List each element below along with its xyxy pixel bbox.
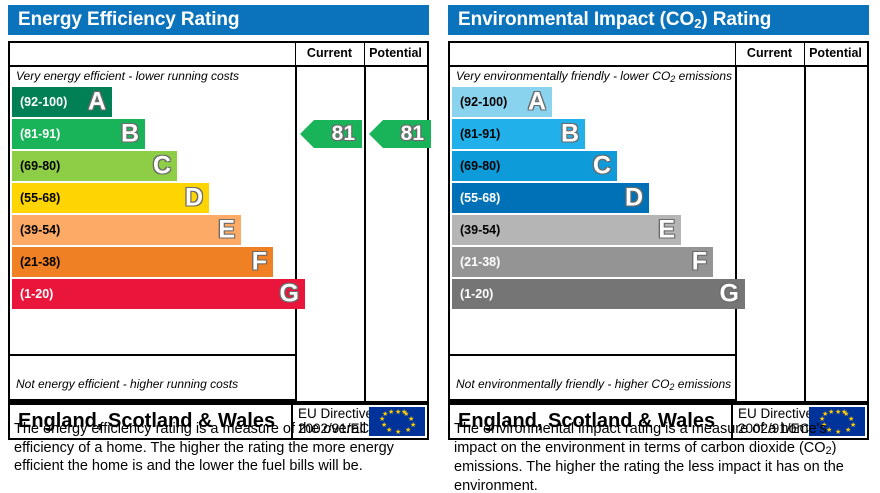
band-range-g: (1-20): [20, 279, 53, 309]
band-bar-c-env: (69-80) C: [452, 151, 617, 181]
band-bar-f-env: (21-38) F: [452, 247, 713, 277]
grid-header-row-environmental: Current Potential: [450, 43, 867, 65]
panel-title-text: Energy Efficiency Rating: [18, 9, 239, 30]
band-letter-e: E: [218, 218, 235, 243]
rating-grid-environmental: Current Potential Very environmentally f…: [448, 41, 869, 403]
band-bar-b: (81-91) B: [12, 119, 145, 149]
panel-title-subscript: 2: [694, 16, 701, 31]
description-environmental: The environmental impact rating is a mea…: [454, 420, 859, 493]
band-letter-g: G: [280, 282, 299, 307]
band-range-c-env: (69-80): [460, 151, 500, 181]
potential-rating-value: 81: [401, 122, 424, 146]
caption-bottom-text-env: Not environmentally friendly - higher CO: [456, 377, 669, 391]
caption-top-text: Very energy efficient - lower running co…: [16, 69, 239, 83]
column-separator-current: [295, 65, 297, 401]
panel-title-environmental-impact: Environmental Impact (CO2) Rating: [448, 5, 869, 35]
band-range-b: (81-91): [20, 119, 60, 149]
band-letter-c-env: C: [593, 154, 611, 179]
band-bar-g-env: (1-20) G: [452, 279, 745, 309]
caption-bottom-environmental: Not environmentally friendly - higher CO…: [456, 376, 731, 392]
band-letter-d: D: [185, 186, 203, 211]
epc-chart-page: Energy Efficiency Rating Current Potenti…: [0, 0, 880, 493]
band-range-b-env: (81-91): [460, 119, 500, 149]
band-bar-c: (69-80) C: [12, 151, 177, 181]
column-separator-potential: [364, 65, 366, 401]
band-bar-d-env: (55-68) D: [452, 183, 649, 213]
column-separator-current-env: [735, 65, 737, 401]
band-letter-f-env: F: [692, 250, 707, 275]
caption-top-tail: emissions: [675, 69, 732, 83]
grid-header-row-energy: Current Potential: [10, 43, 427, 65]
column-header-potential-env: Potential: [804, 43, 867, 65]
band-range-c: (69-80): [20, 151, 60, 181]
panel-title-tail: ) Rating: [701, 9, 771, 30]
grid-bottom-rule-env: [450, 399, 737, 401]
band-range-a-env: (92-100): [460, 87, 507, 117]
potential-rating-arrow: 81: [369, 120, 431, 148]
panel-title-energy-efficiency: Energy Efficiency Rating: [8, 5, 429, 35]
column-separator-potential-env: [804, 65, 806, 401]
band-bar-a: (92-100) A: [12, 87, 112, 117]
band-letter-d-env: D: [625, 186, 643, 211]
band-range-e: (39-54): [20, 215, 60, 245]
caption-top-energy: Very energy efficient - lower running co…: [16, 68, 239, 84]
band-bar-b-env: (81-91) B: [452, 119, 585, 149]
band-range-e-env: (39-54): [460, 215, 500, 245]
caption-top-text-env: Very environmentally friendly - lower CO: [456, 69, 670, 83]
band-letter-c: C: [153, 154, 171, 179]
caption-bottom-rule-env: [450, 354, 737, 356]
band-range-f-env: (21-38): [460, 247, 500, 277]
description-energy: The energy efficiency rating is a measur…: [14, 420, 419, 476]
band-letter-a: A: [88, 90, 106, 115]
caption-bottom-subscript: 2: [669, 382, 674, 392]
band-range-d: (55-68): [20, 183, 60, 213]
column-header-current-env: Current: [735, 43, 804, 65]
band-range-d-env: (55-68): [460, 183, 500, 213]
grid-bottom-rule: [10, 399, 297, 401]
caption-bottom-text: Not energy efficient - higher running co…: [16, 377, 238, 391]
band-bar-d: (55-68) D: [12, 183, 209, 213]
caption-bottom-tail: emissions: [674, 377, 731, 391]
rating-grid-energy: Current Potential Very energy efficient …: [8, 41, 429, 403]
band-letter-e-env: E: [658, 218, 675, 243]
panel-title-text-env: Environmental Impact (CO: [458, 9, 694, 30]
caption-top-environmental: Very environmentally friendly - lower CO…: [456, 68, 732, 84]
band-letter-a-env: A: [528, 90, 546, 115]
band-range-f: (21-38): [20, 247, 60, 277]
band-letter-f: F: [252, 250, 267, 275]
band-bar-e-env: (39-54) E: [452, 215, 681, 245]
current-rating-arrow: 81: [300, 120, 362, 148]
caption-bottom-energy: Not energy efficient - higher running co…: [16, 376, 238, 392]
band-bar-a-env: (92-100) A: [452, 87, 552, 117]
band-letter-g-env: G: [720, 282, 739, 307]
caption-top-subscript: 2: [670, 74, 675, 84]
panel-environmental-impact: Environmental Impact (CO2) Rating Curren…: [440, 0, 869, 493]
band-range-g-env: (1-20): [460, 279, 493, 309]
band-bar-e: (39-54) E: [12, 215, 241, 245]
column-header-current: Current: [295, 43, 364, 65]
caption-bottom-rule: [10, 354, 297, 356]
band-range-a: (92-100): [20, 87, 67, 117]
band-bar-f: (21-38) F: [12, 247, 273, 277]
column-header-potential: Potential: [364, 43, 427, 65]
current-rating-value: 81: [332, 122, 355, 146]
panel-energy-efficiency: Energy Efficiency Rating Current Potenti…: [0, 0, 429, 493]
band-letter-b: B: [121, 122, 139, 147]
band-bar-g: (1-20) G: [12, 279, 305, 309]
band-letter-b-env: B: [561, 122, 579, 147]
desc-co2-subscript: 2: [826, 445, 832, 457]
